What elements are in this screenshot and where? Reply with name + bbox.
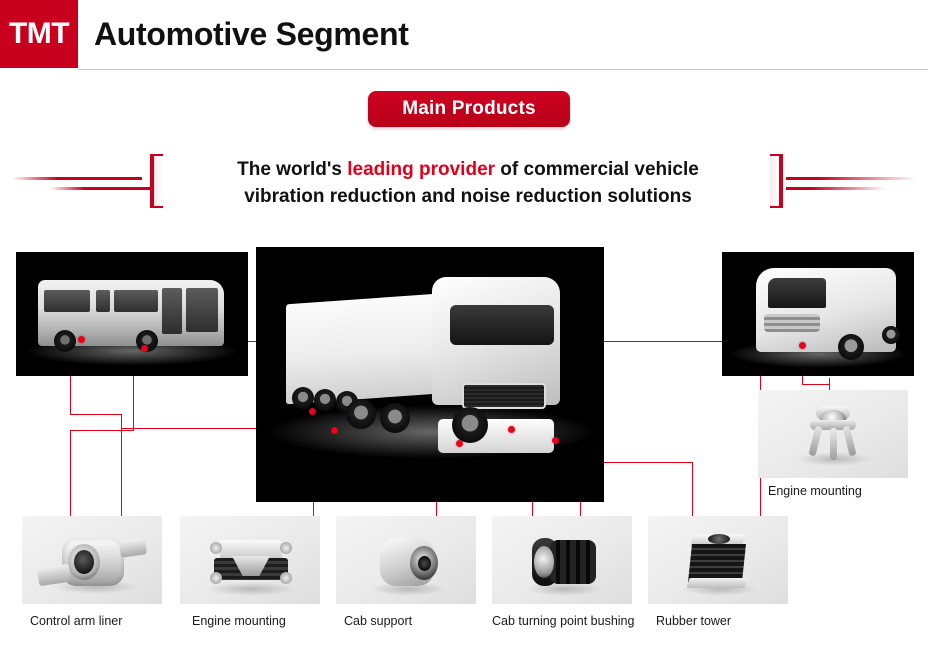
product-card-4 bbox=[648, 516, 788, 604]
logo-text: TMT bbox=[9, 17, 69, 51]
tagline: The world's leading provider of commerci… bbox=[176, 156, 760, 210]
product-label-2: Cab support bbox=[344, 614, 412, 628]
decor-line-right-2 bbox=[786, 187, 886, 190]
decor-line-left-2 bbox=[50, 187, 150, 190]
vehicle-photo-bus bbox=[16, 252, 248, 376]
bus-body-shape bbox=[38, 280, 224, 346]
connector-prod5-drop bbox=[692, 462, 693, 517]
connector-bus-1-h2 bbox=[70, 414, 122, 415]
product-card-3 bbox=[492, 516, 632, 604]
product-label-0: Control arm liner bbox=[30, 614, 122, 628]
product-card-engine-mounting-side bbox=[758, 390, 908, 478]
hotspot-truck-4 bbox=[456, 440, 463, 447]
page-title: Automotive Segment bbox=[94, 16, 409, 53]
connector-van-h bbox=[802, 384, 830, 385]
tagline-highlight: leading provider bbox=[347, 159, 495, 180]
tmt-logo: TMT bbox=[0, 0, 78, 68]
connector-bus-2-drop bbox=[70, 430, 71, 517]
product-label-3: Cab turning point bushing bbox=[492, 614, 634, 628]
decor-line-left-1 bbox=[12, 177, 142, 180]
product-label-1: Engine mounting bbox=[192, 614, 286, 628]
title-divider bbox=[78, 69, 928, 70]
hotspot-van-1 bbox=[799, 342, 806, 349]
product-label-4: Rubber tower bbox=[656, 614, 731, 628]
truck-windshield-shape bbox=[450, 305, 554, 345]
tagline-part-before: The world's bbox=[237, 159, 347, 180]
van-windshield-shape bbox=[768, 278, 826, 308]
product-card-2 bbox=[336, 516, 476, 604]
bracket-right-icon bbox=[770, 154, 783, 208]
hotspot-truck-5 bbox=[552, 437, 559, 444]
product-card-0 bbox=[22, 516, 162, 604]
hotspot-bus-2 bbox=[141, 345, 148, 352]
main-products-badge-label: Main Products bbox=[402, 98, 536, 120]
main-products-badge: Main Products bbox=[368, 91, 570, 127]
hotspot-truck-3 bbox=[508, 426, 515, 433]
decor-line-right-1 bbox=[786, 177, 916, 180]
hotspot-bus-1 bbox=[78, 336, 85, 343]
truck-grille-shape bbox=[462, 383, 546, 409]
connector-truck-tie-right bbox=[604, 341, 722, 342]
vehicle-photo-truck bbox=[256, 247, 604, 502]
connector-bus-2-h bbox=[70, 430, 134, 431]
product-label-engine-mounting-side: Engine mounting bbox=[768, 484, 862, 498]
hotspot-truck-1 bbox=[309, 408, 316, 415]
bracket-left-icon bbox=[150, 154, 163, 208]
slide-canvas: TMT Automotive Segment Main Products The… bbox=[0, 0, 928, 656]
product-card-1 bbox=[180, 516, 320, 604]
hotspot-truck-2 bbox=[331, 427, 338, 434]
tagline-part-after: of commercial vehicle bbox=[495, 159, 699, 180]
vehicle-photo-van bbox=[722, 252, 914, 376]
tagline-line-1: The world's leading provider of commerci… bbox=[176, 156, 760, 183]
connector-truck-tie-left bbox=[121, 428, 256, 429]
connector-van-drop bbox=[829, 378, 830, 390]
tagline-line-2: vibration reduction and noise reduction … bbox=[176, 183, 760, 210]
van-grille-shape bbox=[764, 314, 820, 332]
